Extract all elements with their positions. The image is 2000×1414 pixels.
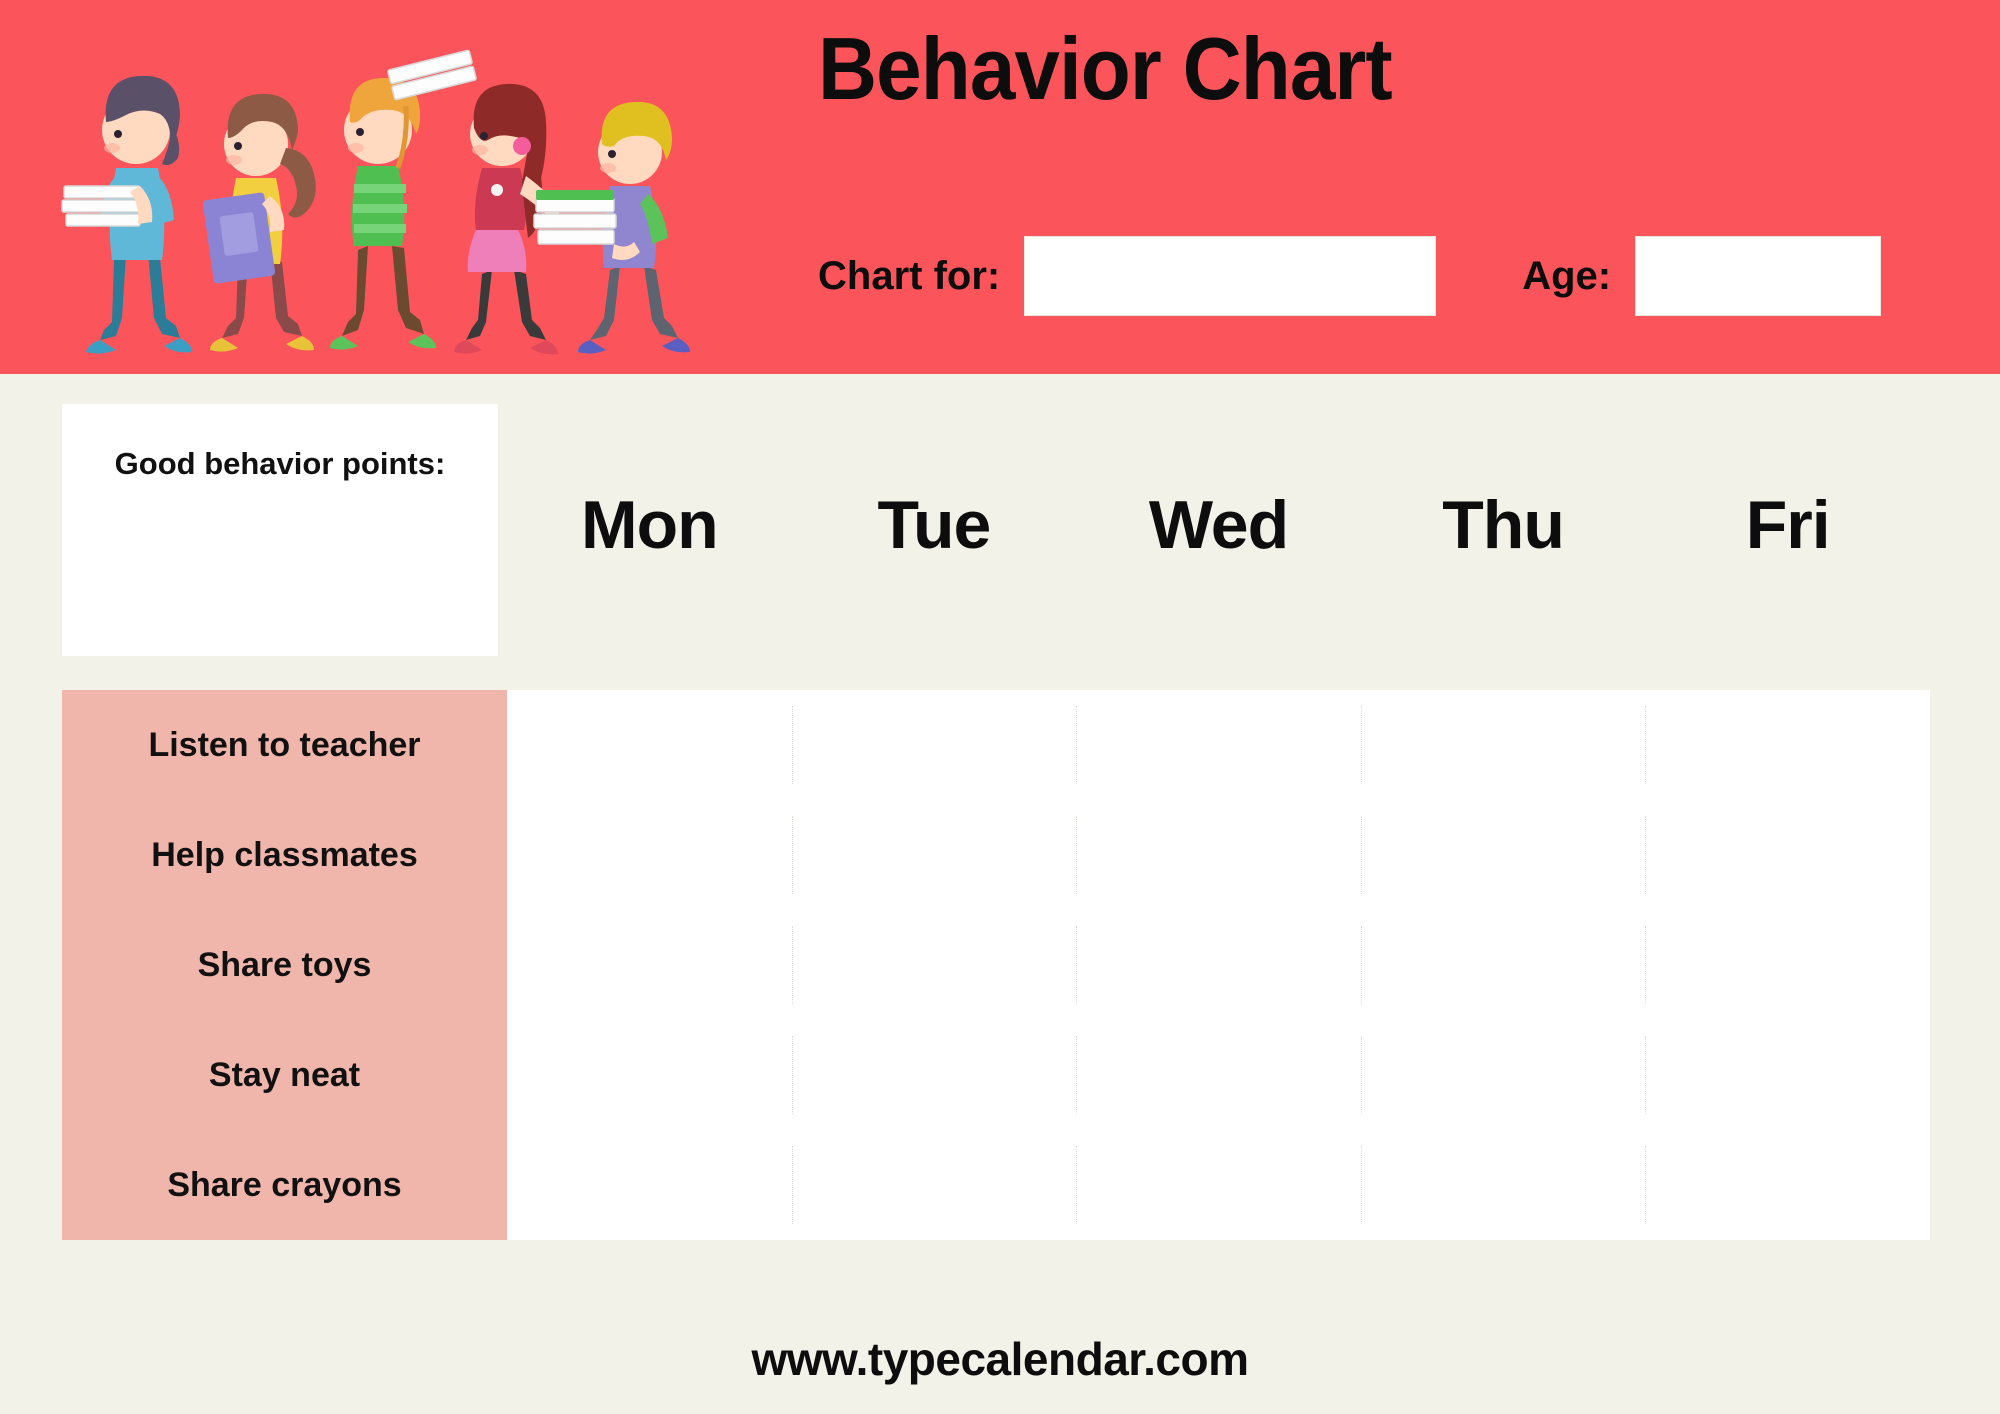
cell-r0-fri[interactable]	[1645, 690, 1930, 800]
behavior-chart-page: Behavior Chart Chart for: Age: Good beha…	[0, 0, 2000, 1414]
behavior-label-share-crayons: Share crayons	[62, 1130, 507, 1240]
day-header-tue: Tue	[792, 470, 1077, 580]
cell-r0-wed[interactable]	[1076, 690, 1361, 800]
age-label: Age:	[1522, 254, 1611, 299]
behavior-cells-row-3	[507, 1020, 1930, 1130]
behavior-cells-row-2	[507, 910, 1930, 1020]
cell-r1-tue[interactable]	[792, 800, 1077, 910]
chart-for-label: Chart for:	[818, 254, 1000, 299]
day-header-thu: Thu	[1361, 470, 1646, 580]
behavior-label-help-classmates: Help classmates	[62, 800, 507, 910]
cell-r2-tue[interactable]	[792, 910, 1077, 1020]
page-title: Behavior Chart	[818, 18, 1392, 120]
kids-walking-with-books-illustration	[30, 18, 790, 358]
cell-r4-thu[interactable]	[1361, 1130, 1646, 1240]
cell-r0-mon[interactable]	[507, 690, 792, 800]
good-behavior-points-box[interactable]: Good behavior points:	[62, 404, 498, 656]
cell-r3-mon[interactable]	[507, 1020, 792, 1130]
header-banner: Behavior Chart Chart for: Age:	[0, 0, 2000, 374]
cell-r4-wed[interactable]	[1076, 1130, 1361, 1240]
cell-r3-fri[interactable]	[1645, 1020, 1930, 1130]
day-header-wed: Wed	[1076, 470, 1361, 580]
cell-r3-tue[interactable]	[792, 1020, 1077, 1130]
table-row: Stay neat	[0, 1020, 2000, 1130]
age-input[interactable]	[1635, 236, 1881, 316]
cell-r0-tue[interactable]	[792, 690, 1077, 800]
behavior-label-share-toys: Share toys	[62, 910, 507, 1020]
behavior-label-stay-neat: Stay neat	[62, 1020, 507, 1130]
footer-url: www.typecalendar.com	[0, 1332, 2000, 1386]
day-header-mon: Mon	[507, 470, 792, 580]
cell-r4-tue[interactable]	[792, 1130, 1077, 1240]
cell-r1-thu[interactable]	[1361, 800, 1646, 910]
behavior-cells-row-0	[507, 690, 1930, 800]
good-behavior-points-label: Good behavior points:	[62, 444, 498, 484]
cell-r2-fri[interactable]	[1645, 910, 1930, 1020]
cell-r4-mon[interactable]	[507, 1130, 792, 1240]
cell-r3-wed[interactable]	[1076, 1020, 1361, 1130]
behavior-cells-row-1	[507, 800, 1930, 910]
cell-r4-fri[interactable]	[1645, 1130, 1930, 1240]
behavior-cells-row-4	[507, 1130, 1930, 1240]
table-row: Help classmates	[0, 800, 2000, 910]
behavior-label-listen-to-teacher: Listen to teacher	[62, 690, 507, 800]
cell-r3-thu[interactable]	[1361, 1020, 1646, 1130]
day-header-row: Mon Tue Wed Thu Fri	[507, 470, 1930, 580]
header-fields: Chart for: Age:	[818, 236, 1978, 316]
cell-r0-thu[interactable]	[1361, 690, 1646, 800]
cell-r1-fri[interactable]	[1645, 800, 1930, 910]
chart-for-input[interactable]	[1024, 236, 1436, 316]
cell-r2-thu[interactable]	[1361, 910, 1646, 1020]
cell-r2-mon[interactable]	[507, 910, 792, 1020]
cell-r1-wed[interactable]	[1076, 800, 1361, 910]
table-row: Share toys	[0, 910, 2000, 1020]
table-row: Share crayons	[0, 1130, 2000, 1240]
cell-r1-mon[interactable]	[507, 800, 792, 910]
day-header-fri: Fri	[1645, 470, 1930, 580]
cell-r2-wed[interactable]	[1076, 910, 1361, 1020]
table-row: Listen to teacher	[0, 690, 2000, 800]
